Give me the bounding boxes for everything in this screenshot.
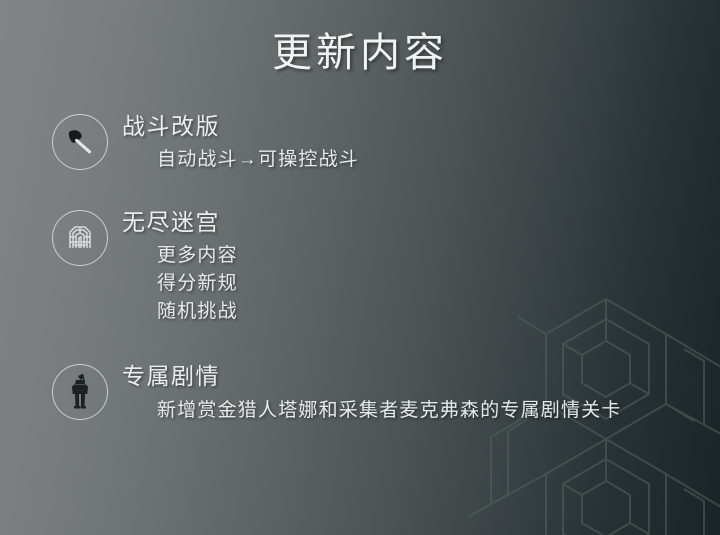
section-items: 新增赏金猎人塔娜和采集者麦克弗森的专属剧情关卡	[122, 396, 677, 426]
section-body: 无尽迷宫 更多内容 得分新规 随机挑战	[122, 208, 238, 326]
section-exclusive-story: 专属剧情 新增赏金猎人塔娜和采集者麦克弗森的专属剧情关卡	[52, 362, 677, 426]
axe-glyph-icon	[63, 125, 97, 159]
section-heading: 专属剧情	[122, 364, 677, 389]
section-items: 自动战斗→可操控战斗	[122, 146, 359, 174]
section-heading: 战斗改版	[122, 114, 359, 139]
list-item: 更多内容	[157, 242, 238, 270]
axe-icon	[52, 114, 108, 170]
character-icon	[52, 364, 108, 420]
section-endless-maze: 无尽迷宫 更多内容 得分新规 随机挑战	[52, 208, 238, 326]
section-body: 战斗改版 自动战斗→可操控战斗	[122, 112, 359, 174]
section-items: 更多内容 得分新规 随机挑战	[122, 242, 238, 326]
section-heading: 无尽迷宫	[122, 210, 238, 235]
list-item: 随机挑战	[157, 298, 238, 326]
section-combat-revamp: 战斗改版 自动战斗→可操控战斗	[52, 112, 359, 174]
section-body: 专属剧情 新增赏金猎人塔娜和采集者麦克弗森的专属剧情关卡	[122, 362, 677, 426]
slide-title: 更新内容	[0, 20, 720, 78]
maze-glyph-icon	[62, 220, 98, 256]
list-item: 得分新规	[157, 270, 238, 298]
list-item: 新增赏金猎人塔娜和采集者麦克弗森的专属剧情关卡	[157, 396, 677, 426]
character-silhouette-icon	[64, 372, 96, 412]
list-item: 自动战斗→可操控战斗	[157, 146, 359, 174]
maze-icon	[52, 210, 108, 266]
update-notes-slide: 更新内容 战斗改版 自动战斗→可操控战斗	[0, 0, 720, 535]
